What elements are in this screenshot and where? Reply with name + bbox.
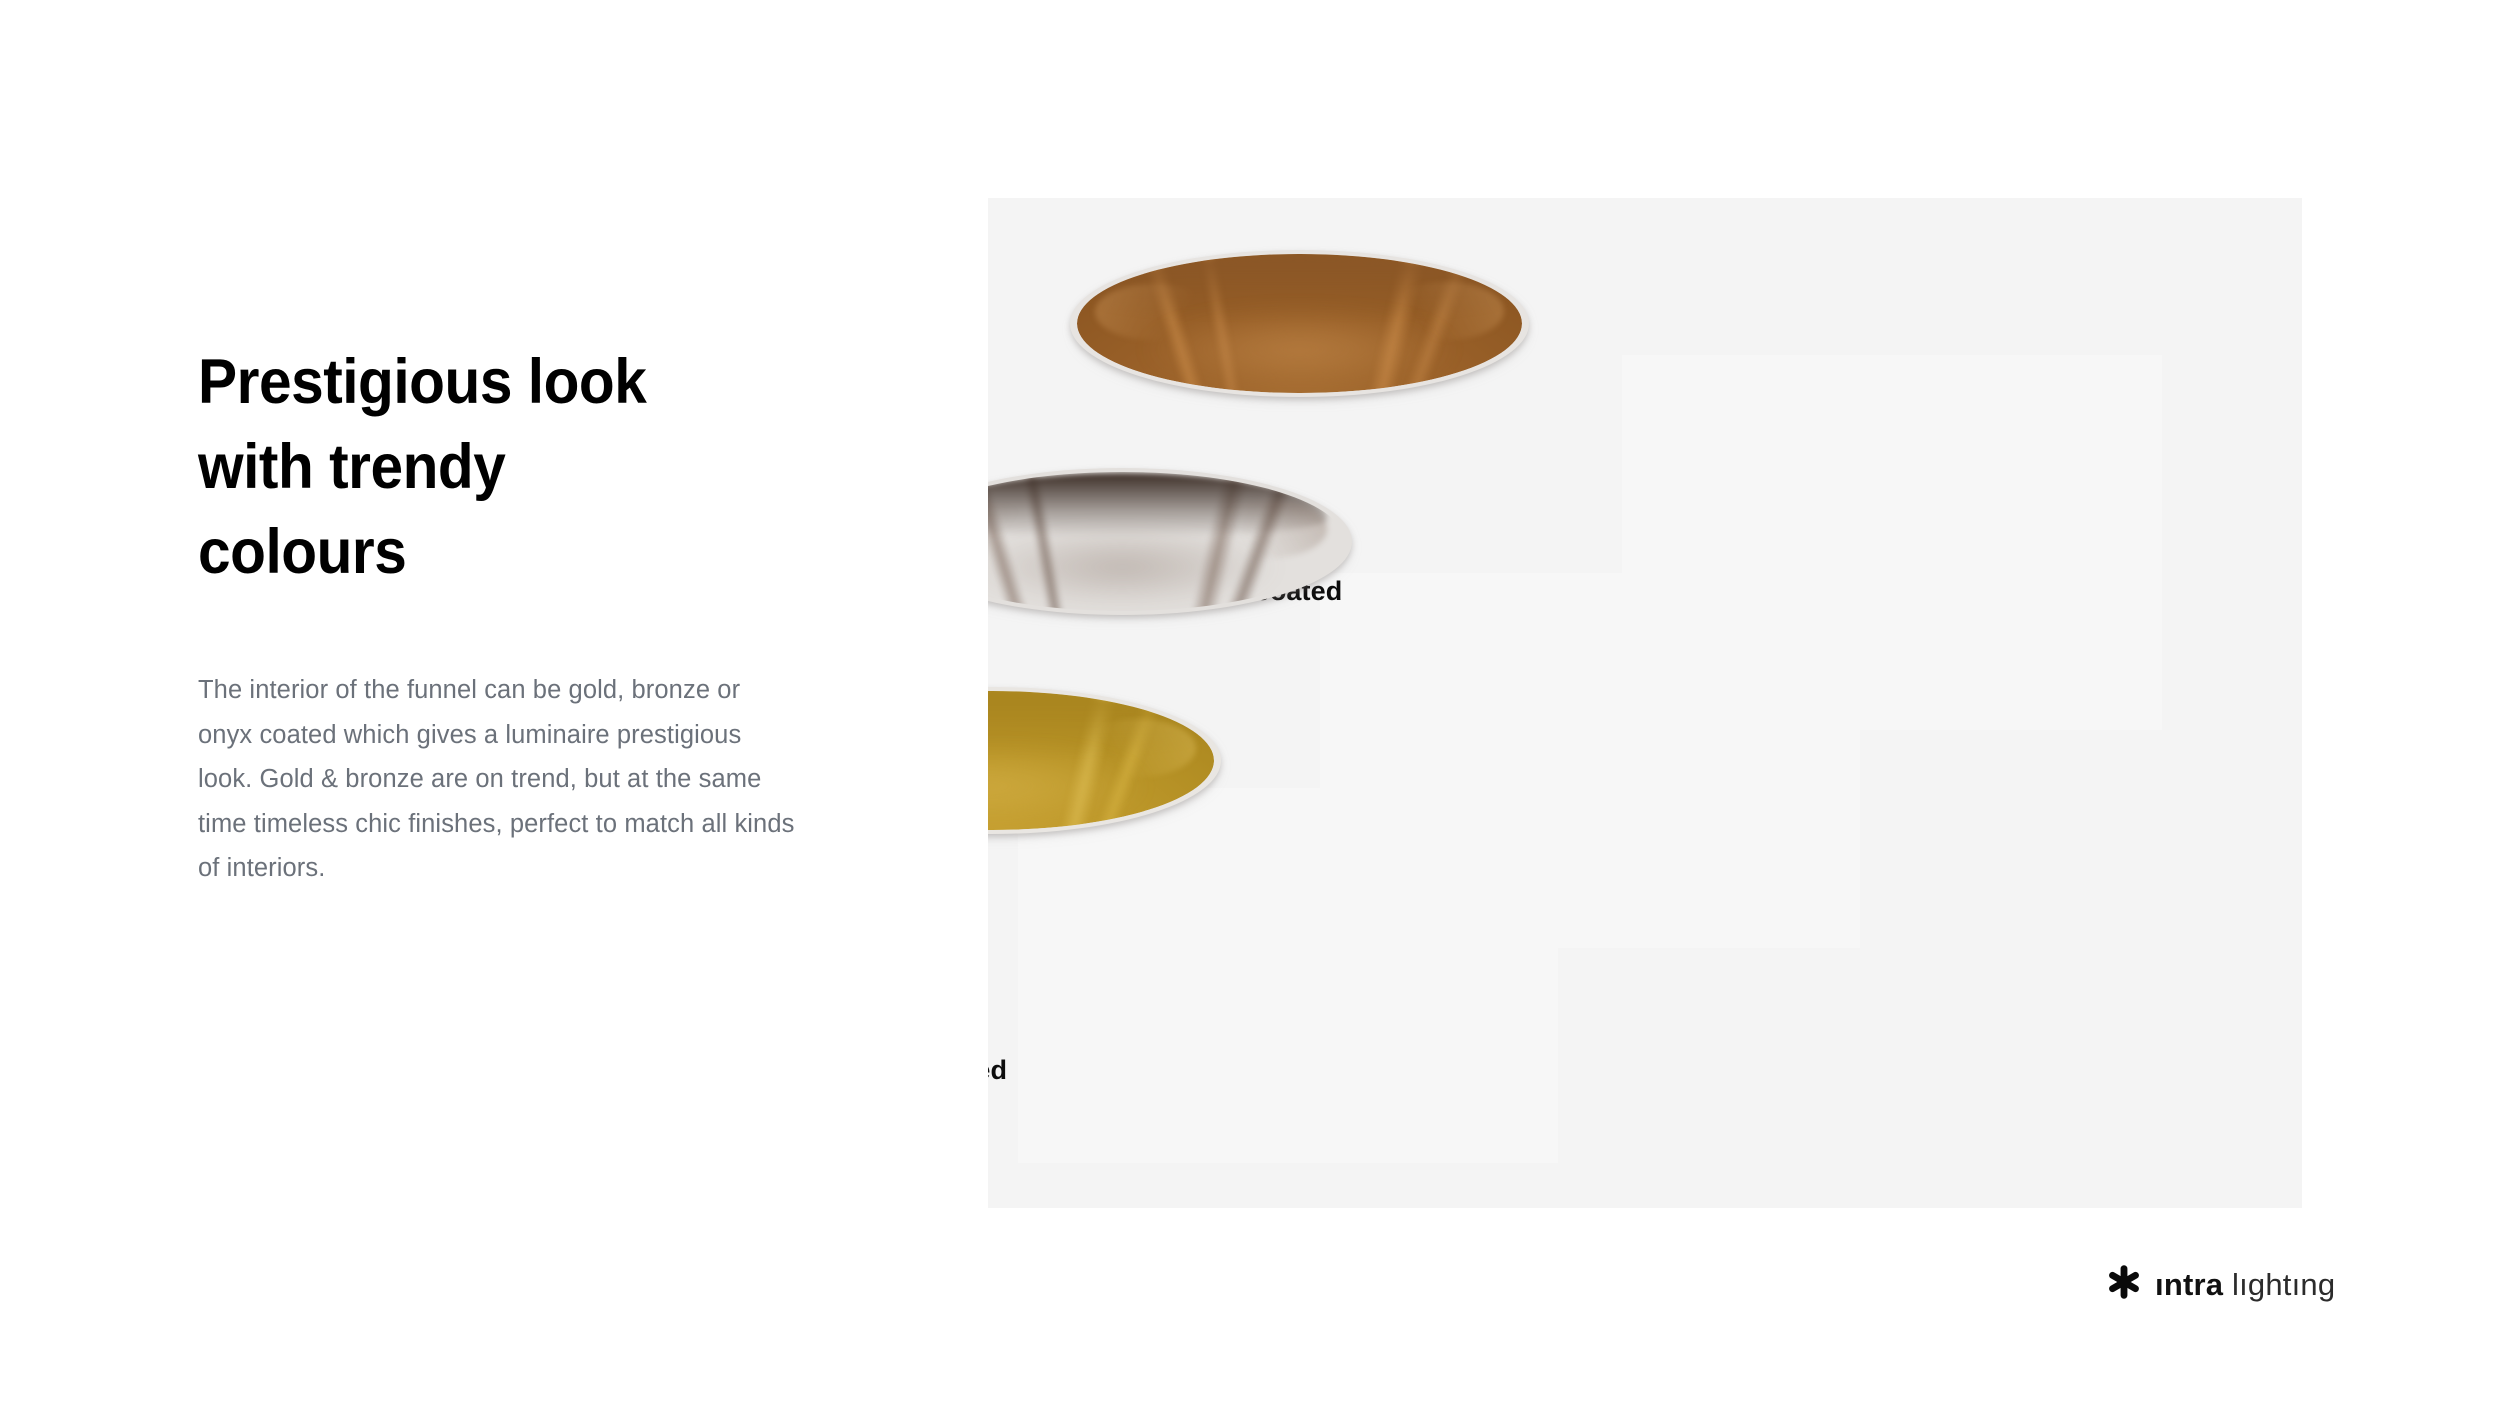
six-point-asterisk-icon: [2105, 1263, 2143, 1306]
body-paragraph: The interior of the funnel can be gold, …: [198, 668, 798, 891]
logo-wordmark: ıntra lıghtıng: [2155, 1269, 2335, 1300]
text-column: Prestigious look with trendy colours: [198, 340, 818, 595]
cone-body-bronze: [1077, 254, 1521, 393]
product-label-gold: Gold coated: [988, 1055, 1007, 1086]
brand-logo: ıntra lıghtıng: [2105, 1263, 2335, 1306]
logo-sub: lıghtıng: [2232, 1267, 2335, 1302]
product-tile-gold: [1018, 788, 1558, 1163]
page-title: Prestigious look with trendy colours: [198, 340, 775, 595]
product-cone-gold: [988, 687, 1221, 834]
product-cone-onyx: [988, 468, 1352, 615]
cone-body-gold: [988, 691, 1214, 830]
logo-brand: ıntra: [2155, 1267, 2223, 1302]
product-cone-bronze: [1070, 250, 1529, 397]
product-image-panel: Bronze coated Onyx coated: [988, 198, 2302, 1208]
